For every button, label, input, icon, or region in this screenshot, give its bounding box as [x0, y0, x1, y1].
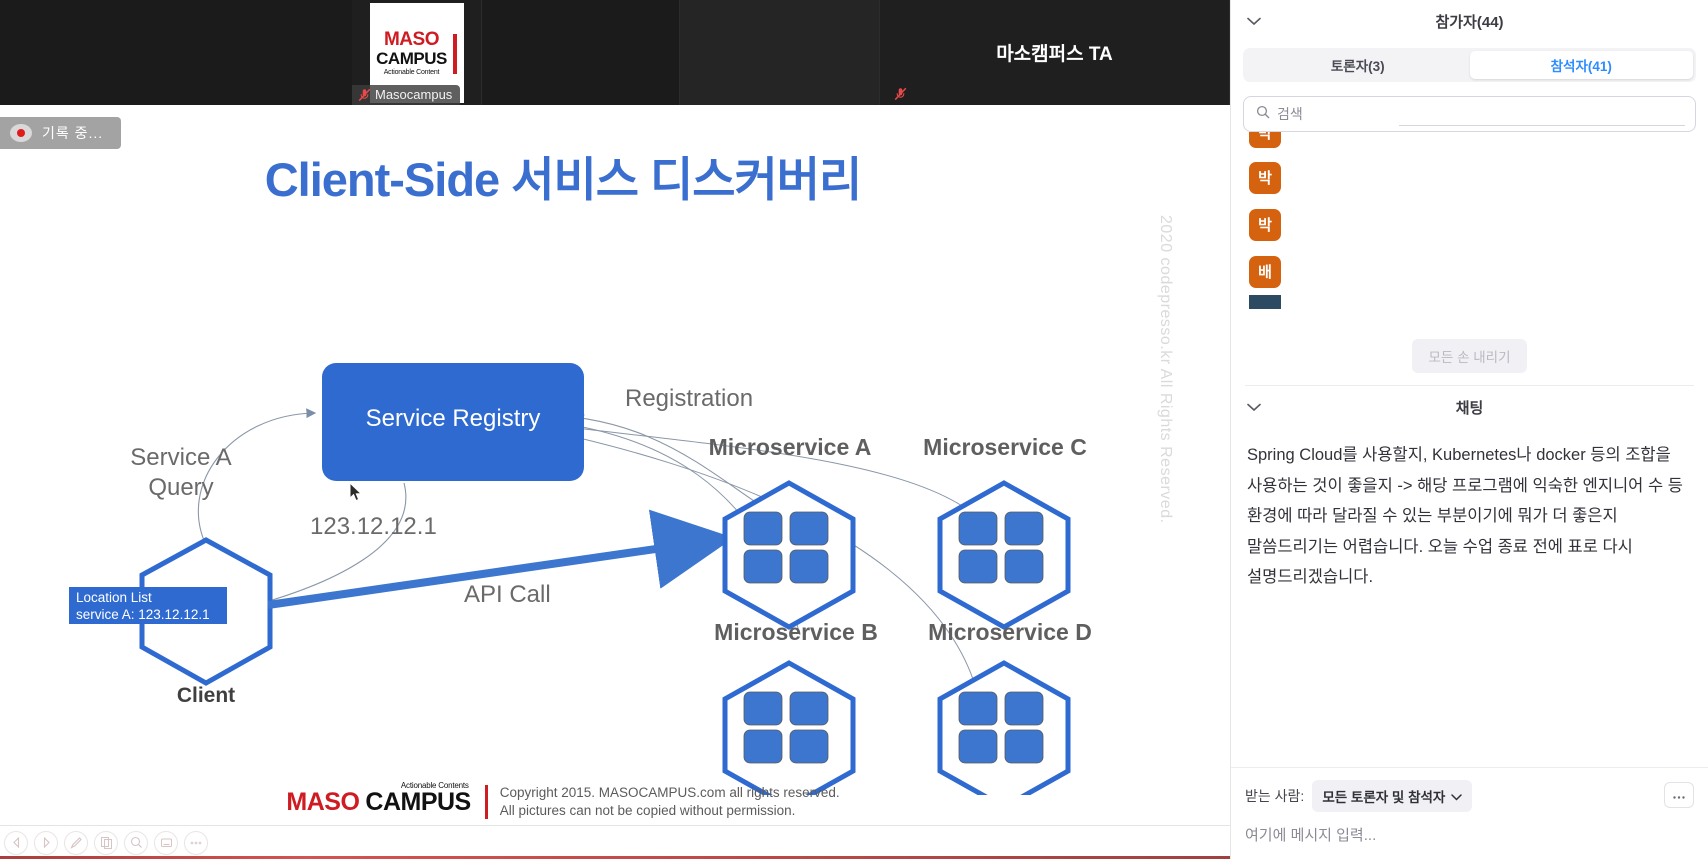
footer-copyright: Copyright 2015. MASOCAMPUS.com all right…: [500, 784, 840, 820]
chat-message-input[interactable]: 여기에 메시지 입력...: [1245, 824, 1694, 845]
api-call-label: API Call: [464, 581, 551, 608]
mic-off-icon: [894, 87, 907, 101]
video-tile-empty-mid[interactable]: [482, 0, 680, 105]
footer-copyright-line1: Copyright 2015. MASOCAMPUS.com all right…: [500, 784, 840, 802]
lower-all-hands-button[interactable]: 모든 손 내리기: [1412, 339, 1526, 373]
annotation-toolbar: [0, 825, 1230, 859]
chevron-down-icon[interactable]: [1245, 398, 1263, 416]
video-tile-name: Masocampus: [375, 87, 452, 102]
avatar: [1249, 295, 1281, 309]
ellipsis-icon: [1672, 787, 1686, 804]
chat-header: 채팅: [1231, 386, 1708, 428]
zoom-button[interactable]: [124, 831, 148, 855]
slide-title: Client-Side 서비스 디스커버리: [0, 141, 1126, 210]
search-underline: [1399, 125, 1685, 126]
footer-divider: [485, 785, 488, 819]
video-tile-nameplate: Masocampus: [352, 85, 460, 105]
tab-panelists[interactable]: 토론자(3): [1246, 51, 1470, 79]
location-list-line1: Location List: [76, 590, 152, 605]
chat-recipient-select[interactable]: 모든 토론자 및 참석자: [1312, 780, 1472, 812]
search-icon: [1256, 105, 1270, 124]
footer-logo-tagline: Actionable Contents: [401, 781, 469, 790]
recording-badge: 기록 중...: [0, 117, 121, 149]
chat-compose-area: 받는 사람: 모든 토론자 및 참석자 여기에 메시지 입력...: [1231, 767, 1708, 859]
list-item[interactable]: [1249, 295, 1708, 309]
lower-all-hands-row: 모든 손 내리기: [1231, 337, 1708, 385]
microservice-a-label: Microservice A: [709, 434, 872, 460]
chat-message-list[interactable]: Spring Cloud를 사용할지, Kubernetes나 docker 등…: [1231, 428, 1708, 767]
participants-list[interactable]: 박 박 박 배: [1231, 132, 1708, 337]
service-a-query-line2: Query: [148, 474, 213, 501]
chat-recipient-row: 받는 사람: 모든 토론자 및 참석자: [1245, 780, 1694, 812]
video-tile-empty-left[interactable]: [0, 0, 352, 105]
footer-copyright-line2: All pictures can not be copied without p…: [500, 802, 840, 820]
list-item[interactable]: 배: [1249, 248, 1708, 295]
avatar: 배: [1249, 256, 1281, 288]
maso-logo-line2: CAMPUS: [376, 50, 447, 67]
client-label: Client: [177, 684, 235, 707]
participants-title: 참가자(44): [1231, 11, 1708, 32]
previous-slide-button[interactable]: [4, 831, 28, 855]
notes-button[interactable]: [154, 831, 178, 855]
meeting-area: MASO CAMPUS Actionable Content Masocampu…: [0, 0, 1230, 859]
copy-button[interactable]: [94, 831, 118, 855]
chat-message: Spring Cloud를 사용할지, Kubernetes나 docker 등…: [1247, 440, 1692, 593]
location-list-line2: service A: 123.12.12.1: [76, 607, 210, 622]
chevron-down-icon: [1451, 789, 1462, 804]
chat-more-options-button[interactable]: [1664, 782, 1694, 808]
service-registry-label: Service Registry: [366, 405, 541, 432]
footer-logo-campus: CAMPUS: [365, 788, 470, 817]
presentation-slide: Client-Side 서비스 디스커버리 2020 codepresso.kr…: [0, 105, 1178, 859]
registration-label: Registration: [625, 385, 753, 412]
slide-footer: MASO CAMPUS Actionable Contents Copyrigh…: [0, 779, 1126, 825]
list-item[interactable]: 박: [1249, 154, 1708, 201]
service-a-query-line1: Service A: [130, 444, 231, 471]
recording-label: 기록 중...: [42, 123, 103, 143]
chevron-down-icon[interactable]: [1245, 12, 1263, 30]
avatar: 박: [1249, 209, 1281, 241]
maso-logo-tagline: Actionable Content: [376, 69, 447, 76]
mic-off-icon: [358, 88, 371, 102]
masocampus-footer-logo: MASO CAMPUS Actionable Contents: [286, 788, 482, 817]
microservice-c-label: Microservice C: [923, 434, 1087, 460]
microservice-b-label: Microservice B: [714, 619, 878, 645]
zoom-side-panel: 참가자(44) 토론자(3) 참석자(41) 검색 박 박 박: [1230, 0, 1708, 859]
microservice-d-hexagon: [940, 663, 1068, 795]
video-tile-ta-name: 마소캠퍼스 TA: [996, 39, 1113, 66]
video-tile-masocampus[interactable]: MASO CAMPUS Actionable Content Masocampu…: [352, 0, 482, 105]
avatar: 박: [1249, 132, 1281, 148]
microservice-b-hexagon: [725, 663, 853, 795]
avatar: 박: [1249, 162, 1281, 194]
shared-screen-stage: Client-Side 서비스 디스커버리 2020 codepresso.kr…: [0, 105, 1230, 859]
search-input[interactable]: 검색: [1243, 96, 1696, 132]
more-options-button[interactable]: [184, 831, 208, 855]
record-dot-icon: [10, 124, 32, 142]
search-placeholder: 검색: [1277, 104, 1303, 124]
architecture-diagram: Service Registry Service A Query 123.12.…: [0, 215, 1178, 795]
video-filmstrip: MASO CAMPUS Actionable Content Masocampu…: [0, 0, 1230, 105]
maso-logo-line1: MASO: [376, 30, 447, 49]
mouse-cursor: [349, 482, 363, 507]
footer-logo-maso: MASO: [286, 788, 359, 817]
microservice-a-hexagon: [725, 483, 853, 627]
next-slide-button[interactable]: [34, 831, 58, 855]
participants-header: 참가자(44): [1231, 0, 1708, 42]
video-tile-ta[interactable]: 마소캠퍼스 TA: [880, 0, 1230, 105]
microservice-d-label: Microservice D: [928, 619, 1092, 645]
zoom-meeting-window: MASO CAMPUS Actionable Content Masocampu…: [0, 0, 1708, 859]
annotate-pen-button[interactable]: [64, 831, 88, 855]
list-item[interactable]: 박: [1249, 201, 1708, 248]
tab-attendees[interactable]: 참석자(41): [1470, 51, 1694, 79]
chat-title: 채팅: [1231, 397, 1708, 418]
ip-address-label: 123.12.12.1: [310, 513, 437, 540]
list-item[interactable]: 박: [1249, 132, 1281, 148]
chat-to-label: 받는 사람:: [1245, 786, 1304, 806]
chat-recipient-value: 모든 토론자 및 참석자: [1322, 786, 1445, 806]
participants-tabs: 토론자(3) 참석자(41): [1243, 48, 1696, 82]
video-tile-empty-mid2[interactable]: [680, 0, 880, 105]
